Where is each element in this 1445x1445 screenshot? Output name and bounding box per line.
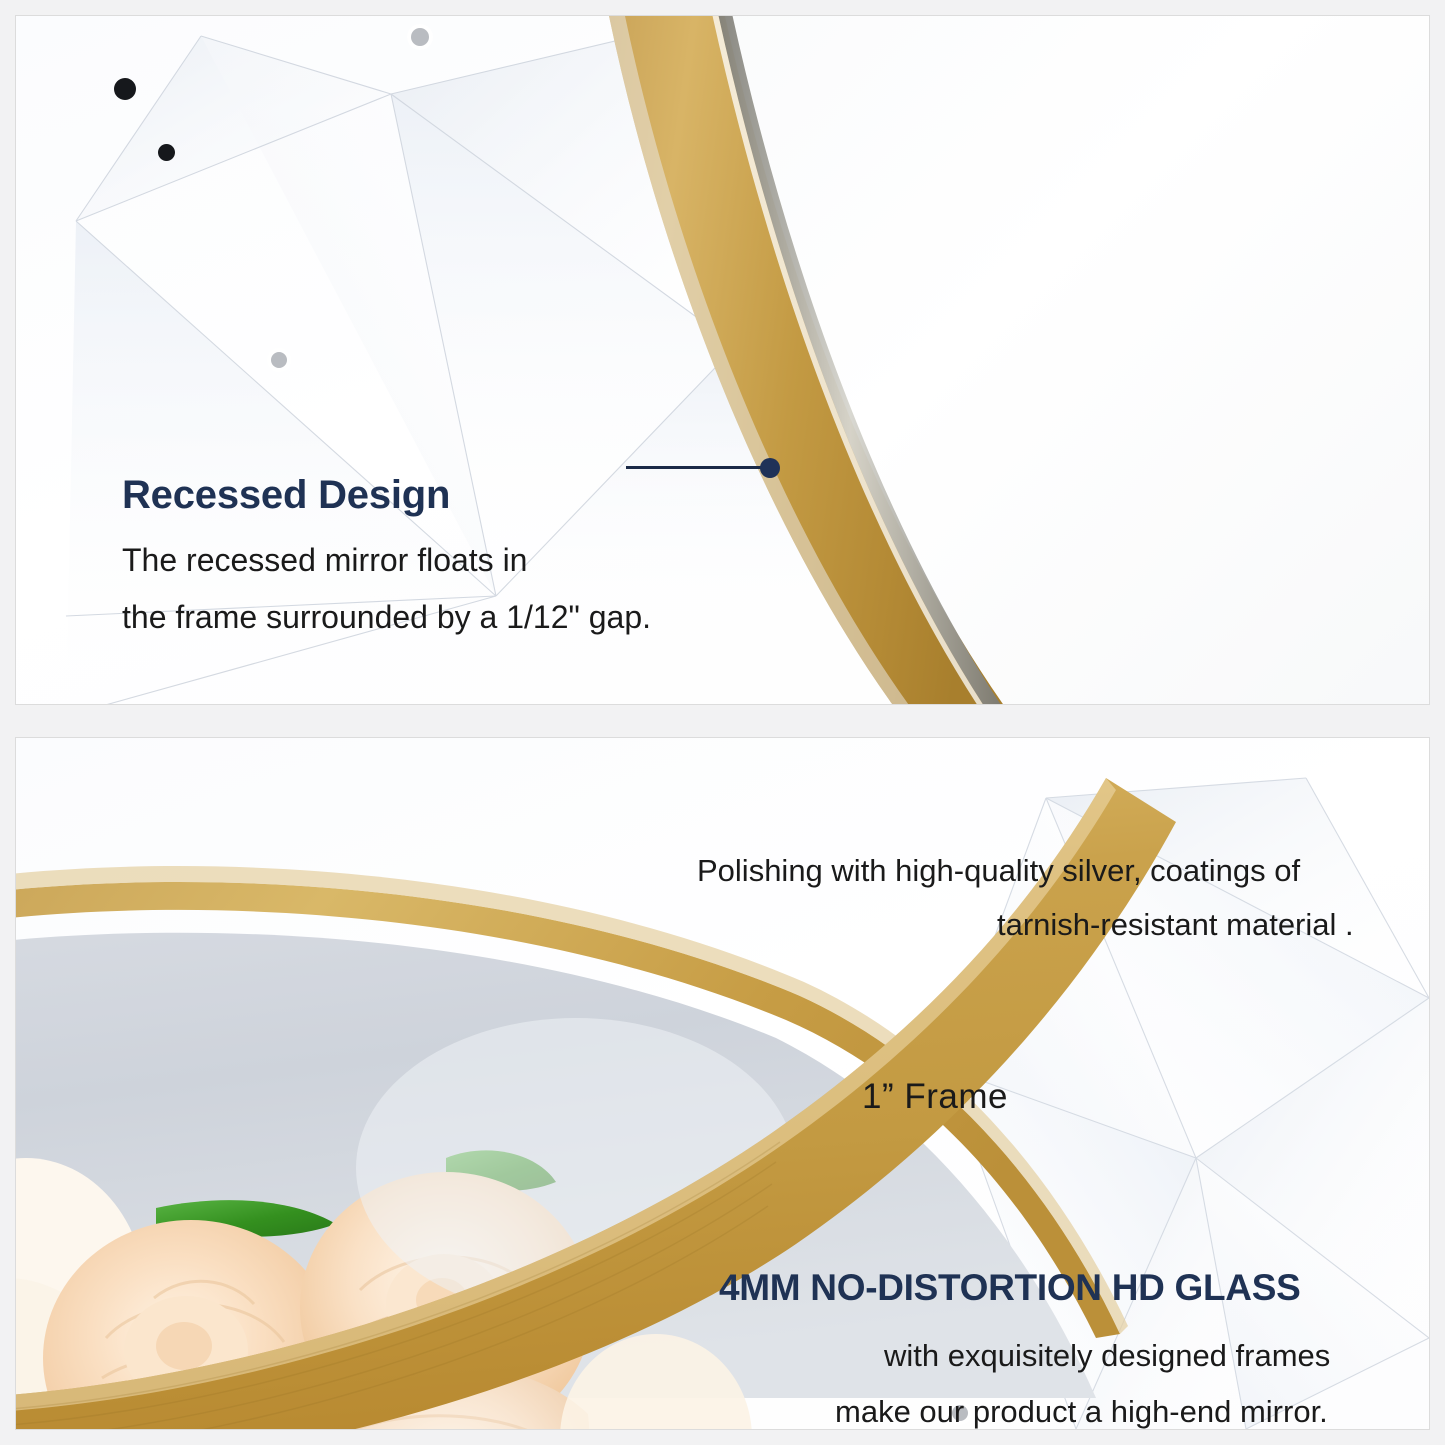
polishing-callout-line-1: Polishing with high-quality silver, coat… [697, 853, 1300, 889]
hd-glass-heading: 4MM NO-DISTORTION HD GLASS [719, 1267, 1300, 1309]
mirror-with-roses-illustration [16, 738, 1429, 1429]
rose-center-core [156, 1322, 212, 1370]
decorative-node-dot [411, 28, 429, 46]
recessed-design-heading: Recessed Design [122, 473, 450, 518]
recessed-design-body-line-1: The recessed mirror floats in [122, 542, 527, 579]
panel-hd-glass [15, 737, 1430, 1430]
decorative-node-dot [158, 144, 175, 161]
frame-dimension-label: 1” Frame [862, 1077, 1008, 1117]
product-infographic-page: Recessed Design The recessed mirror floa… [0, 0, 1445, 1445]
recessed-design-body-line-2: the frame surrounded by a 1/12" gap. [122, 599, 651, 636]
decorative-node-dot [271, 352, 287, 368]
decorative-node-dot [114, 78, 136, 100]
polishing-callout-line-2: tarnish-resistant material . [997, 907, 1354, 943]
panel-recessed-design: Recessed Design The recessed mirror floa… [15, 15, 1430, 705]
hd-glass-body-line-1: with exquisitely designed frames [884, 1338, 1330, 1374]
callout-leader-line [626, 466, 774, 469]
hd-glass-body-line-2: make our product a high-end mirror. [835, 1394, 1328, 1430]
callout-anchor-dot [760, 458, 780, 478]
